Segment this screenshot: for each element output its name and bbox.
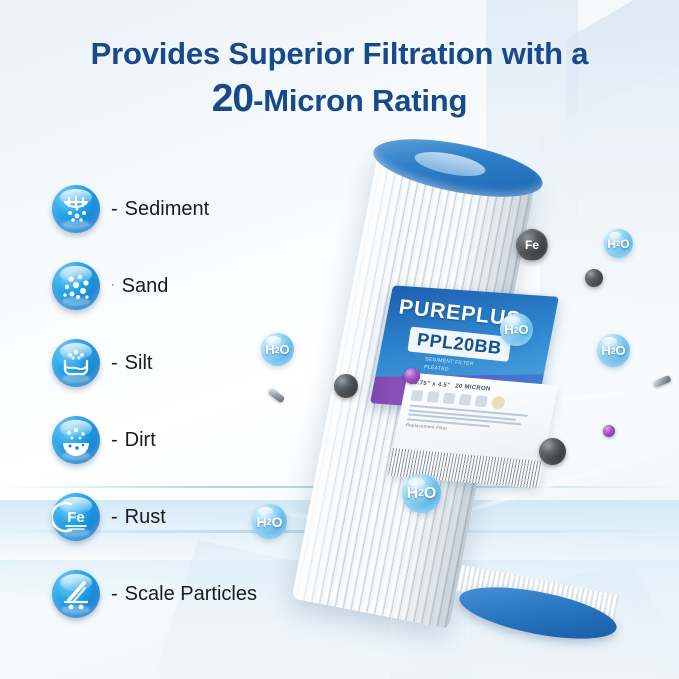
feature-label-sand: Sand: [122, 275, 169, 298]
feature-item-sand[interactable]: · Sand: [52, 261, 342, 311]
feature-item-silt[interactable]: - Silt: [52, 338, 342, 388]
feature-dash: -: [111, 353, 118, 373]
feature-item-dirt[interactable]: - Dirt: [52, 415, 342, 465]
feature-label-scale-particles: Scale Particles: [125, 583, 257, 606]
feature-list: - Sediment · Sand -: [52, 184, 342, 646]
feature-label-rust: Rust: [125, 506, 166, 529]
feature-item-rust[interactable]: Fe - Rust: [52, 492, 342, 542]
headline-line-1: Provides Superior Filtration with a: [28, 36, 651, 73]
feature-label-dirt: Dirt: [125, 429, 156, 452]
feature-dash: -: [111, 507, 118, 527]
particle-purple-2: [603, 425, 615, 437]
h2o-bubble-left-lower: H2O: [252, 504, 287, 539]
spec-icon-3: [443, 393, 456, 405]
h2o-bubble-top-right: H2O: [604, 229, 633, 258]
micron-rating-text: -Micron Rating: [253, 83, 467, 118]
water-filter-cartridge: PUREPLUS PPL20BB SEDIMENT FILTER PLEATED…: [330, 140, 605, 650]
spec-icon-1: [411, 390, 424, 402]
feature-label-sediment: Sediment: [125, 198, 210, 221]
feature-dash: -: [111, 199, 118, 219]
feature-dash: ·: [111, 280, 115, 291]
product-spec-sheet: 9.75" x 4.5" 20 MICRON Replacement Filte…: [388, 372, 558, 488]
particle-rod-2: [652, 375, 671, 388]
spec-icon-4: [459, 394, 472, 406]
dirt-icon: [52, 416, 100, 464]
silt-icon: [52, 339, 100, 387]
particle-dark-2: [539, 438, 566, 465]
sand-icon: [52, 262, 100, 310]
particle-dark-3: [585, 269, 603, 287]
label-subtitle: SEDIMENT FILTER PLEATED: [424, 356, 474, 376]
particle-purple-1: [404, 368, 420, 384]
model-number: PPL20BB: [407, 327, 511, 362]
h2o-bubble-left-upper: H2O: [261, 333, 294, 366]
headline: Provides Superior Filtration with a 20-M…: [0, 36, 679, 122]
rust-fe-icon: Fe: [52, 493, 100, 541]
headline-line-2: 20-Micron Rating: [28, 76, 651, 122]
spec-micron: 20 MICRON: [454, 384, 491, 393]
sediment-icon: [52, 185, 100, 233]
svg-text:Fe: Fe: [67, 509, 85, 526]
spec-dimension: 9.75" x 4.5": [413, 380, 450, 389]
fe-bubble-rust: Fe: [516, 229, 548, 261]
feature-item-sediment[interactable]: - Sediment: [52, 184, 342, 234]
product-feature-graphic: Provides Superior Filtration with a 20-M…: [0, 0, 679, 679]
h2o-bubble-center: H2O: [402, 474, 441, 513]
h2o-bubble-label-right: H2O: [500, 313, 533, 346]
feature-label-silt: Silt: [125, 352, 153, 375]
micron-rating-value: 20: [212, 77, 253, 120]
spec-icon-5: [475, 395, 488, 407]
spec-seal-icon: [491, 396, 507, 410]
scale-particles-icon: [52, 570, 100, 618]
feature-item-scale-particles[interactable]: - Scale Particles: [52, 569, 342, 619]
feature-dash: -: [111, 584, 118, 604]
feature-dash: -: [111, 430, 118, 450]
h2o-bubble-right-mid: H2O: [597, 334, 630, 367]
spec-icon-2: [427, 391, 440, 403]
